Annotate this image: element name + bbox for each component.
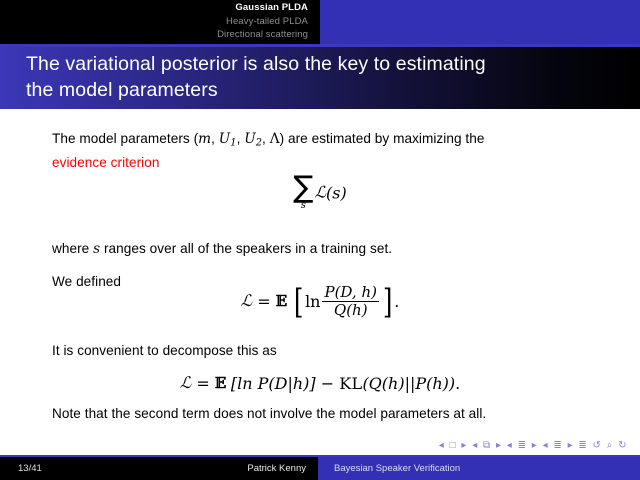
- eq2-equals: =: [257, 292, 270, 311]
- eq3-period: .: [455, 374, 460, 393]
- author-name: Patrick Kenny: [0, 463, 306, 474]
- eq2-expectation-symbol: 𝔼: [276, 292, 287, 310]
- script-L-args: (s): [326, 184, 347, 203]
- nav-sym-frame-icon[interactable]: ⧉: [483, 440, 491, 451]
- slide-title-bar: The variational posterior is also the ke…: [0, 47, 640, 109]
- nav-sym-slide-next-icon[interactable]: ▸: [461, 440, 467, 451]
- eq2-numerator: P(D, h): [322, 285, 379, 301]
- equation-elbo-decomposition: ℒ = 𝔼 [ln P(D|h)] − KL(Q(h)||P(h)).: [0, 373, 640, 393]
- nav-sym-section-prev-icon[interactable]: ◂: [543, 440, 549, 451]
- page-title: The variational posterior is also the ke…: [26, 51, 626, 103]
- nav-sym-search-icon[interactable]: ⌕: [607, 440, 614, 451]
- sum-operator: ∑ s: [293, 175, 313, 211]
- equation-sum-likelihood: ∑ s ℒ(s): [0, 175, 640, 211]
- nav-item-gaussian-plda[interactable]: Gaussian PLDA: [0, 1, 308, 15]
- nav-sym-frame-prev-icon[interactable]: ◂: [472, 440, 478, 451]
- eq3-lhs-script-L: ℒ: [180, 373, 192, 392]
- highlight-evidence-criterion: evidence criterion: [52, 155, 159, 170]
- nav-sym-slide-icon[interactable]: □: [450, 440, 457, 451]
- nav-sym-subsec-icon[interactable]: ≣: [518, 440, 527, 451]
- eq3-term-kl-args: (Q(h)||P(h)): [362, 374, 455, 393]
- eq2-lhs-script-L: ℒ: [241, 291, 253, 310]
- eq3-kl-operator: KL: [339, 374, 362, 393]
- nav-sym-frame-next-icon[interactable]: ▸: [496, 440, 502, 451]
- eq3-minus: −: [321, 374, 334, 393]
- script-L: ℒ: [314, 183, 326, 202]
- nav-item-heavy-tailed-plda[interactable]: Heavy-tailed PLDA: [0, 15, 308, 29]
- eq2-fraction: P(D, h) Q(h): [322, 285, 379, 318]
- paragraph-decompose: It is convenient to decompose this as: [52, 341, 552, 360]
- presentation-title: Bayesian Speaker Verification: [334, 463, 460, 474]
- where-text-after: ranges over all of the speakers in a tra…: [100, 241, 392, 256]
- comma-1: ,: [211, 131, 219, 146]
- nav-sym-doc-icon[interactable]: ≣: [578, 440, 587, 451]
- section-navigation: Gaussian PLDA Heavy-tailed PLDA Directio…: [0, 1, 308, 42]
- nav-sym-forward-icon[interactable]: ↻: [618, 440, 627, 451]
- title-line-2: the model parameters: [26, 79, 218, 101]
- nav-sym-subsec-next-icon[interactable]: ▸: [532, 440, 538, 451]
- nav-sym-section-next-icon[interactable]: ▸: [568, 440, 574, 451]
- nav-sym-section-icon[interactable]: ≣: [553, 440, 562, 451]
- nav-sym-slide-prev-icon[interactable]: ◂: [439, 440, 445, 451]
- paragraph-model-parameters: The model parameters (m, U1, U2, Λ) are …: [52, 129, 502, 172]
- eq2-bracket-open: [: [294, 287, 304, 317]
- slide-body: The model parameters (m, U1, U2, Λ) are …: [0, 109, 640, 439]
- eq2-bracket-close: ]: [383, 287, 393, 317]
- nav-item-directional-scattering[interactable]: Directional scattering: [0, 28, 308, 42]
- beamer-navigation-symbols[interactable]: ◂ □ ▸ ◂ ⧉ ▸ ◂ ≣ ▸ ◂ ≣ ▸ ≣ ↺ ⌕ ↻: [438, 440, 628, 452]
- text-after-symbols: ) are estimated by maximizing the: [280, 131, 485, 146]
- text-before-symbols: The model parameters (: [52, 131, 198, 146]
- sum-glyph: ∑: [293, 175, 313, 201]
- symbol-lambda: Λ: [270, 131, 280, 147]
- where-text-before: where: [52, 241, 93, 256]
- paragraph-note-second-term: Note that the second term does not invol…: [52, 404, 492, 423]
- symbol-m: m: [198, 131, 211, 147]
- eq2-period: .: [394, 292, 399, 311]
- slide-footer: 13/41 Patrick Kenny Bayesian Speaker Ver…: [0, 457, 640, 480]
- eq2-denominator: Q(h): [322, 302, 379, 318]
- symbol-u1: U: [219, 131, 231, 147]
- symbol-u2: U: [244, 131, 256, 147]
- eq3-term-log-likelihood: [ln P(D|h)]: [231, 374, 316, 393]
- comma-3: ,: [262, 131, 270, 146]
- equation-elbo-definition: ℒ = 𝔼 [ln P(D, h) Q(h) ].: [0, 285, 640, 318]
- eq3-equals: =: [196, 374, 209, 393]
- title-line-1: The variational posterior is also the ke…: [26, 53, 486, 75]
- eq2-ln: ln: [305, 292, 320, 311]
- slide-header: Gaussian PLDA Heavy-tailed PLDA Directio…: [0, 0, 640, 44]
- nav-sym-subsec-prev-icon[interactable]: ◂: [507, 440, 513, 451]
- nav-sym-back-icon[interactable]: ↺: [593, 440, 602, 451]
- paragraph-where-s-ranges: where s ranges over all of the speakers …: [52, 239, 552, 259]
- eq3-expectation-symbol: 𝔼: [215, 374, 226, 392]
